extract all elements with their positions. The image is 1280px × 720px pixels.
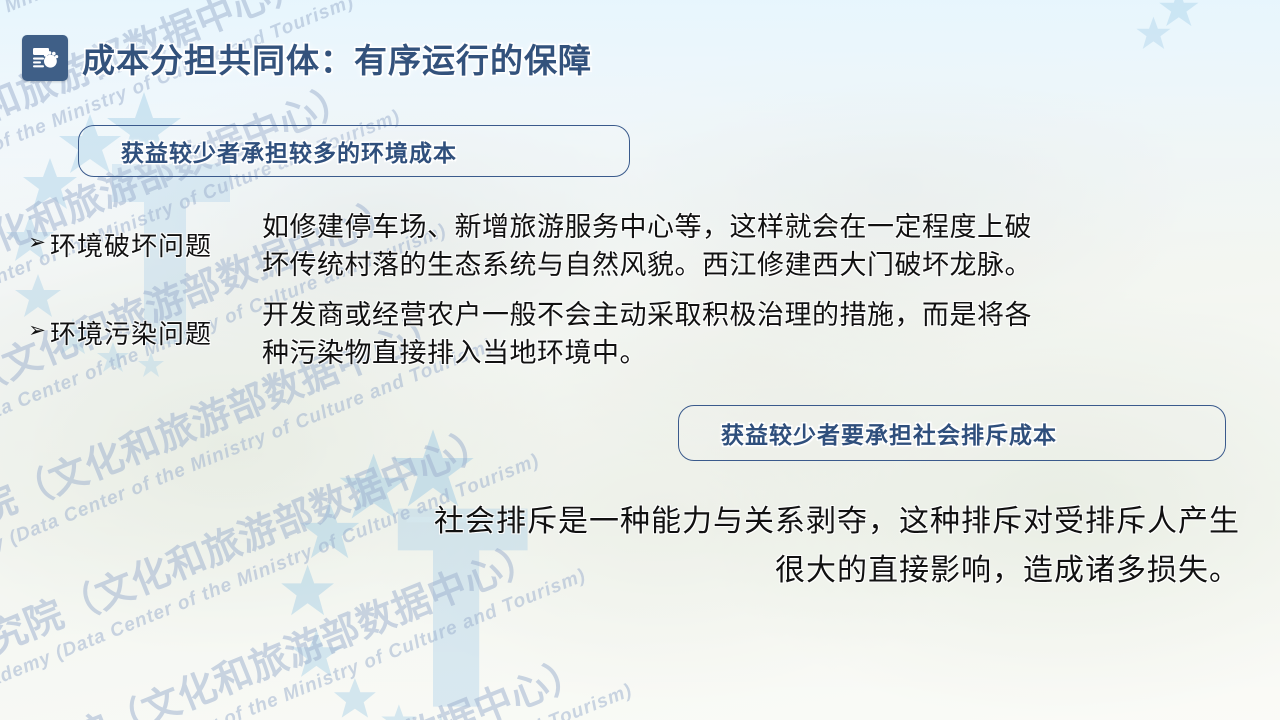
callout-label: 获益较少者承担较多的环境成本 [121, 134, 457, 168]
bullet-body-line: 种污染物直接排入当地环境中。 [262, 334, 1264, 372]
callout-box-social-exclusion-cost: 获益较少者要承担社会排斥成本 [678, 405, 1226, 461]
page-title: 成本分担共同体：有序运行的保障 [82, 34, 592, 82]
closing-paragraph-line: 社会排斥是一种能力与关系剥夺，这种排斥对受排斥人产生 [300, 498, 1240, 547]
callout-box-environment-cost: 获益较少者承担较多的环境成本 [78, 125, 630, 177]
bullet-body-line: 如修建停车场、新增旅游服务中心等，这样就会在一定程度上破 [262, 208, 1264, 246]
slide-canvas: 中国旅游研究院（文化和旅游部数据中心） China Tourism Academ… [0, 0, 1280, 720]
callout-label: 获益较少者要承担社会排斥成本 [721, 416, 1057, 450]
closing-paragraph: 社会排斥是一种能力与关系剥夺，这种排斥对受排斥人产生 很大的直接影响，造成诸多损… [300, 498, 1240, 595]
bullet-body-line: 坏传统村落的生态系统与自然风貌。西江修建西大门破坏龙脉。 [262, 246, 1264, 284]
closing-paragraph-line: 很大的直接影响，造成诸多损失。 [300, 547, 1240, 596]
slide-title-bar: 成本分担共同体：有序运行的保障 [22, 34, 592, 82]
arrow-bullet-icon: ➢ [24, 296, 50, 341]
bullet-term: 环境污染问题 [50, 296, 262, 351]
tourism-logo-watermark [1118, 0, 1280, 156]
presentation-chart-icon [22, 35, 68, 81]
arrow-bullet-icon: ➢ [24, 208, 50, 253]
bullet-row-environment-damage: ➢ 环境破坏问题 如修建停车场、新增旅游服务中心等，这样就会在一定程度上破 坏传… [24, 208, 1264, 285]
bullet-term: 环境破坏问题 [50, 208, 262, 263]
bullet-row-environment-pollution: ➢ 环境污染问题 开发商或经营农户一般不会主动采取积极治理的措施，而是将各 种污… [24, 296, 1264, 373]
bullet-body-line: 开发商或经营农户一般不会主动采取积极治理的措施，而是将各 [262, 296, 1264, 334]
bullet-body: 如修建停车场、新增旅游服务中心等，这样就会在一定程度上破 坏传统村落的生态系统与… [262, 208, 1264, 285]
bullet-body: 开发商或经营农户一般不会主动采取积极治理的措施，而是将各 种污染物直接排入当地环… [262, 296, 1264, 373]
